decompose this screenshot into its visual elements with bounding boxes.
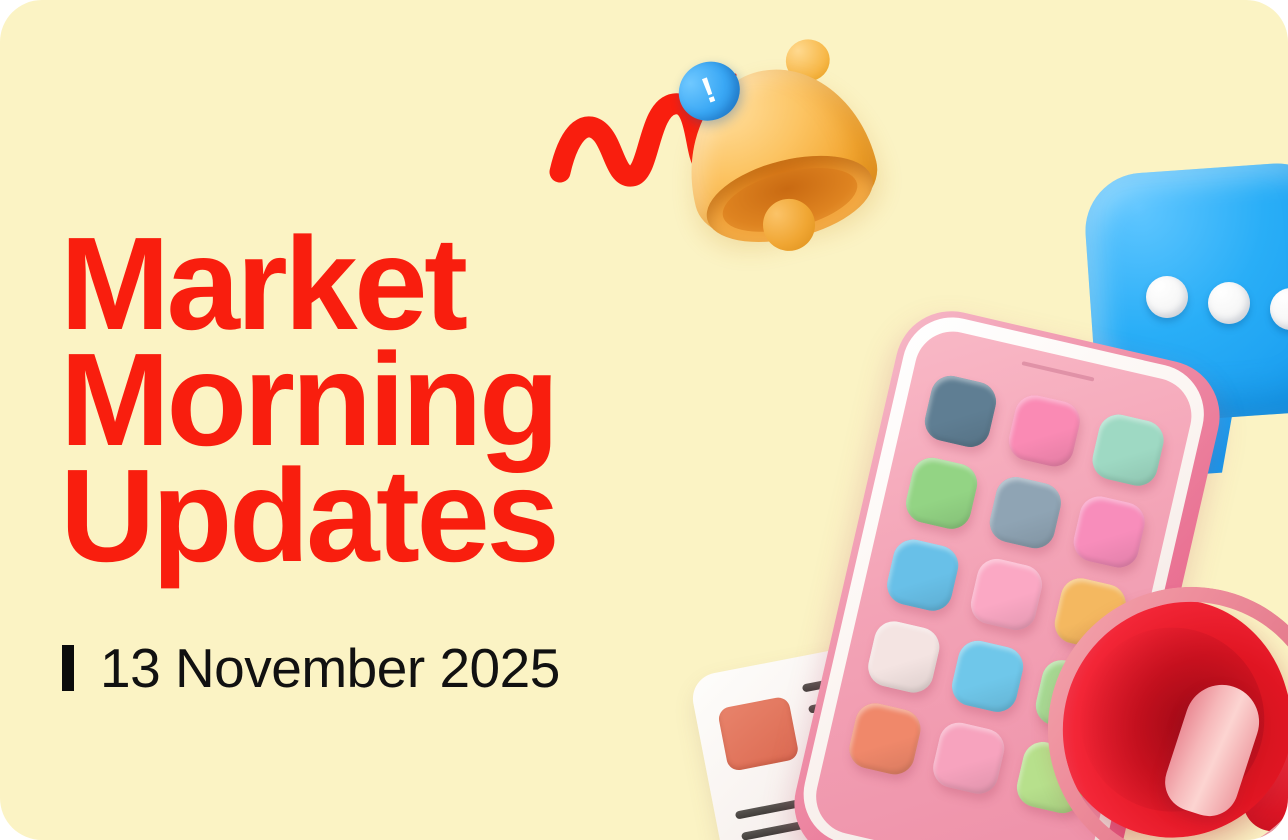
app-tile-pink xyxy=(1070,492,1149,571)
app-tile-cyan xyxy=(948,637,1027,716)
date-accent-bar xyxy=(62,645,74,691)
app-tile-hot-pink xyxy=(1005,391,1084,470)
headline-line-2: Morning xyxy=(60,342,700,458)
typing-dot-1 xyxy=(1146,276,1188,318)
market-morning-updates-banner: Market Morning Updates 13 November 2025 xyxy=(0,0,1288,840)
alert-badge-glyph: ! xyxy=(697,71,721,109)
app-tile-mint xyxy=(1088,411,1167,490)
headline-line-1: Market xyxy=(60,226,700,342)
phone-speaker-slot xyxy=(1021,361,1094,382)
article-thumbnail xyxy=(717,696,800,773)
app-tile-green xyxy=(902,454,981,533)
hero-illustration: ! xyxy=(660,0,1288,840)
date-row: 13 November 2025 xyxy=(62,640,560,696)
app-tile-steel xyxy=(986,473,1065,552)
app-tile-slate xyxy=(921,372,1000,451)
app-tile-sky xyxy=(883,536,962,615)
typing-dot-2 xyxy=(1208,282,1250,324)
app-tile-coral xyxy=(845,699,924,778)
app-tile-blush xyxy=(967,555,1046,634)
headline-line-3: Updates xyxy=(60,458,700,574)
app-tile-cream xyxy=(864,617,943,696)
page-title: Market Morning Updates xyxy=(60,226,700,574)
notification-bell-icon: ! xyxy=(656,20,911,275)
app-tile-rose xyxy=(929,719,1008,798)
date-label: 13 November 2025 xyxy=(100,640,560,696)
